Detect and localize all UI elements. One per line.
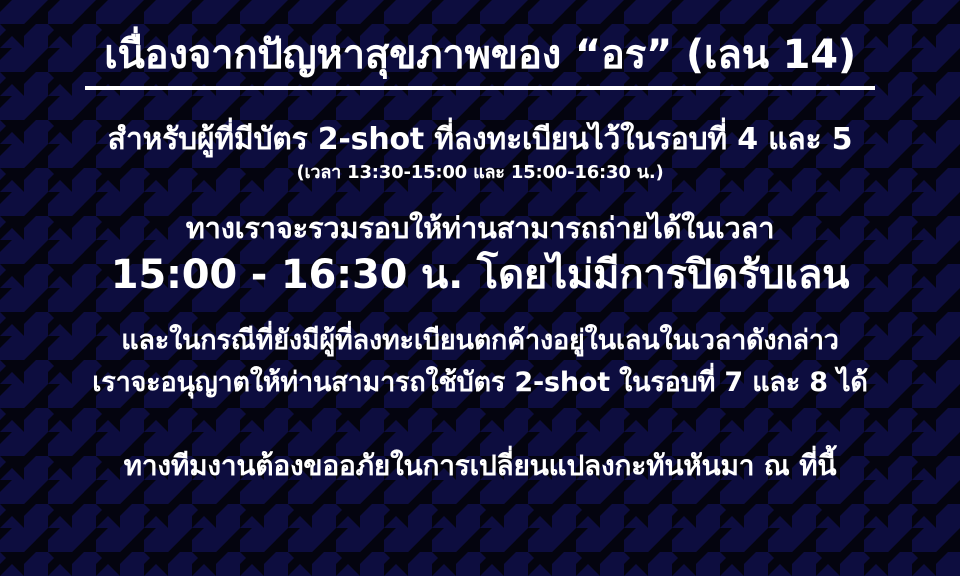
overflow-section: และในกรณีที่ยังมีผู้ที่ลงทะเบียนตกค้างอย…	[0, 327, 960, 397]
overflow-line-1: และในกรณีที่ยังมีผู้ที่ลงทะเบียนตกค้างอย…	[0, 327, 960, 355]
apology-text: ทางทีมงานต้องขออภัยในการเปลี่ยนแปลงกะทัน…	[0, 451, 960, 480]
headline-underline	[85, 86, 875, 90]
headline-text: เนื่องจากปัญหาสุขภาพของ “อร” (เลน 14)	[0, 34, 960, 77]
overflow-line-2: เราจะอนุญาตให้ท่านสามารถใช้บัตร 2-shot ใ…	[0, 369, 960, 397]
poster-content: เนื่องจากปัญหาสุขภาพของ “อร” (เลน 14) สำ…	[0, 0, 960, 576]
merge-time-range-text: 15:00 - 16:30 น. โดยไม่มีการปิดรับเลน	[0, 254, 960, 297]
registered-times-text: (เวลา 13:30-15:00 และ 15:00-16:30 น.)	[0, 164, 960, 183]
registered-section: สำหรับผู้ที่มีบัตร 2-shot ที่ลงทะเบียนไว…	[0, 124, 960, 182]
announcement-poster: เนื่องจากปัญหาสุขภาพของ “อร” (เลน 14) สำ…	[0, 0, 960, 576]
merge-intro-text: ทางเราจะรวมรอบให้ท่านสามารถถ่ายได้ในเวลา	[0, 213, 960, 243]
registered-main-text: สำหรับผู้ที่มีบัตร 2-shot ที่ลงทะเบียนไว…	[0, 124, 960, 156]
headline-block: เนื่องจากปัญหาสุขภาพของ “อร” (เลน 14)	[0, 34, 960, 90]
merge-section: ทางเราจะรวมรอบให้ท่านสามารถถ่ายได้ในเวลา…	[0, 213, 960, 298]
apology-section: ทางทีมงานต้องขออภัยในการเปลี่ยนแปลงกะทัน…	[0, 451, 960, 480]
